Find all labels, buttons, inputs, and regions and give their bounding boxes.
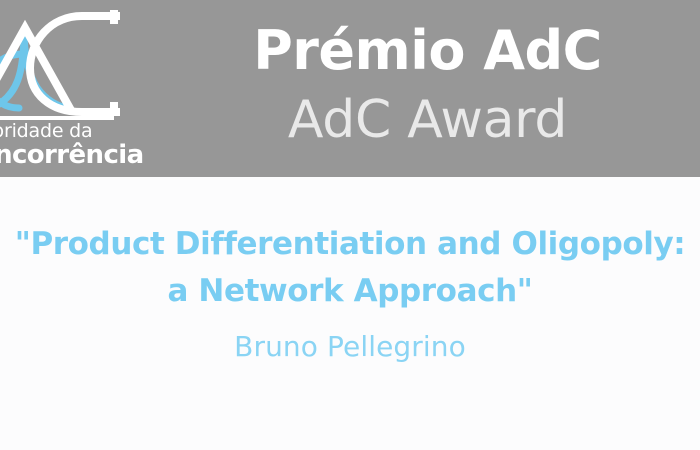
paper-title-line-2: a Network Approach": [0, 268, 700, 315]
award-title-slide: autoridade da concorrência Prémio AdC Ad…: [0, 0, 700, 450]
header-title-group: Prémio AdC AdC Award: [155, 0, 700, 177]
slide-body: "Product Differentiation and Oligopoly: …: [0, 177, 700, 450]
paper-author-name: Bruno Pellegrino: [0, 329, 700, 365]
paper-title-line-1: "Product Differentiation and Oligopoly:: [0, 221, 700, 268]
adc-logo-mark-icon: [0, 2, 132, 120]
logo-organization-line2: concorrência: [0, 140, 152, 171]
award-title-portuguese: Prémio AdC: [155, 18, 700, 84]
header-band: autoridade da concorrência Prémio AdC Ad…: [0, 0, 700, 177]
adc-logo: autoridade da concorrência: [0, 2, 162, 174]
award-title-english: AdC Award: [155, 88, 700, 152]
